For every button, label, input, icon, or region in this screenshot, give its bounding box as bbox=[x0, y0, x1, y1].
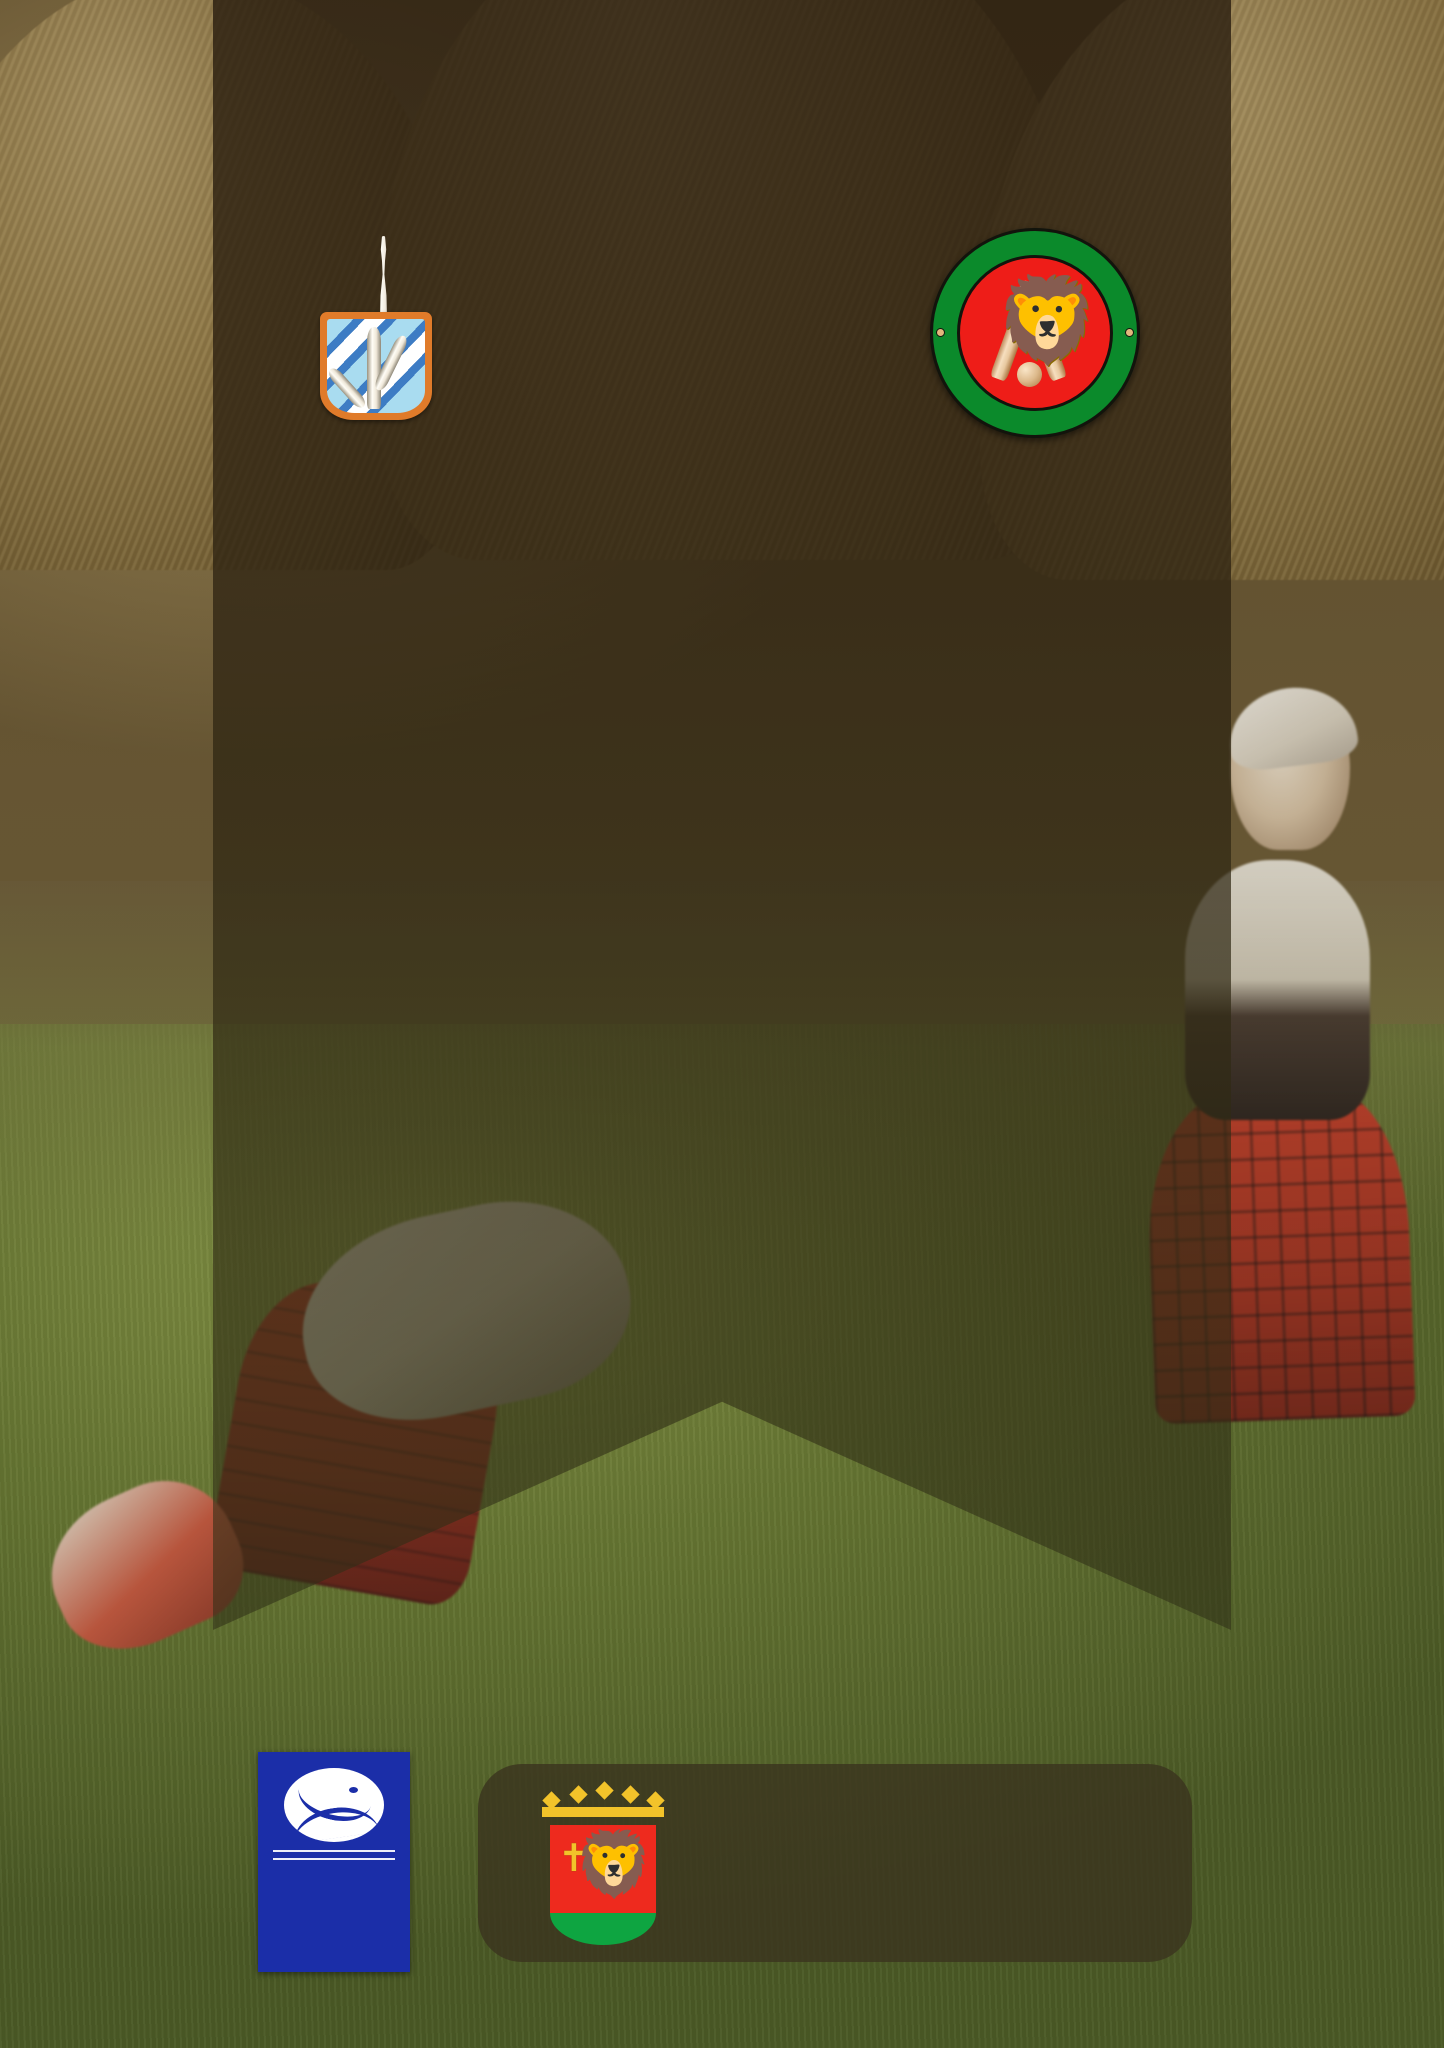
sponsor-logos: ✝ 🦁 bbox=[0, 1752, 1444, 1992]
fab-letters bbox=[309, 219, 453, 237]
fab-federation-logo bbox=[300, 228, 450, 418]
crown-icon bbox=[542, 1781, 664, 1817]
pena-arc-bottom-text bbox=[930, 414, 1140, 429]
shield-red-field: ✝ 🦁 bbox=[550, 1825, 656, 1913]
poster-content: 🦁 bbox=[0, 0, 1444, 2048]
lion-icon: 🦁 bbox=[574, 1833, 654, 1897]
shield-green-base bbox=[550, 1913, 656, 1945]
pena-dot-left bbox=[936, 328, 945, 337]
bowling-pin-icon bbox=[367, 327, 381, 409]
bowling-pin-icon bbox=[327, 365, 368, 410]
poster-title bbox=[213, 96, 1231, 103]
athlete-figure-icon bbox=[284, 1768, 384, 1842]
pena-dot-right bbox=[1125, 328, 1134, 337]
divider bbox=[273, 1858, 395, 1860]
ayuntamiento-llanes-logo: ✝ 🦁 bbox=[478, 1764, 1192, 1962]
divider bbox=[273, 1850, 395, 1852]
pena-inner-circle: 🦁 bbox=[957, 255, 1113, 411]
deporte-asturiano-logo bbox=[258, 1752, 410, 1972]
fab-shield-field bbox=[327, 319, 425, 413]
llanes-coat-of-arms: ✝ 🦁 bbox=[528, 1781, 678, 1945]
fab-shield bbox=[320, 312, 432, 420]
pena-bolistica-logo: 🦁 bbox=[930, 228, 1140, 438]
pena-arc-top-text bbox=[930, 237, 1140, 252]
lion-icon: 🦁 bbox=[995, 278, 1100, 362]
